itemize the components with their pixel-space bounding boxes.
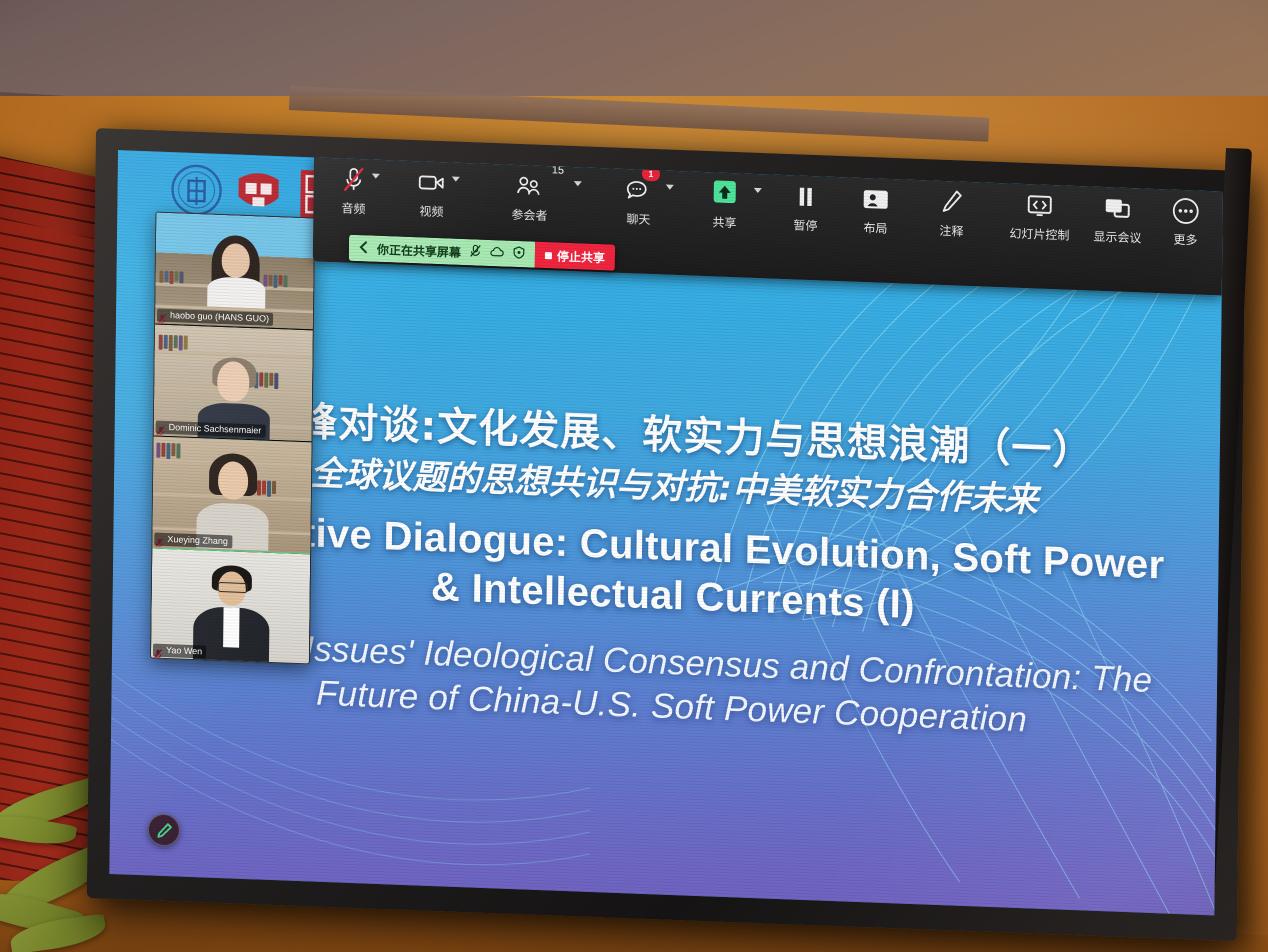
toolbar-button-audio[interactable]: 音频: [341, 158, 366, 217]
toolbar-button-annotate[interactable]: 注释: [939, 181, 964, 240]
toolbar-label-participants: 参会者: [511, 206, 547, 224]
toolbar-button-share[interactable]: 共享: [709, 172, 740, 231]
slide-control-icon: [1026, 190, 1054, 221]
stop-square-icon: [545, 252, 552, 259]
slide-english-subtitle: Global Issues' Ideological Consensus and…: [181, 623, 1162, 747]
participants-count: 15: [552, 164, 564, 176]
share-screen-up-arrow-icon: [710, 178, 740, 209]
toolbar-button-pause[interactable]: 暂停: [793, 175, 818, 234]
toolbar-button-more[interactable]: 更多: [1171, 190, 1200, 249]
toolbar-button-video[interactable]: 视频: [417, 161, 446, 220]
toolbar-label-layout: 布局: [863, 219, 887, 237]
layout-icon: [862, 184, 890, 215]
share-status-caret-icon[interactable]: [359, 241, 368, 256]
zoom-shared-screen: 高峰对谈:文化发展、软实力与思想浪潮（一） 全球议题的思想共识与对抗:中美软实力…: [109, 150, 1223, 915]
participant-tile[interactable]: haobo guo (HANS GUO): [155, 212, 314, 330]
participants-icon: [515, 171, 545, 202]
cloud-recording-icon[interactable]: [490, 245, 504, 261]
share-status-text: 你正在共享屏幕: [377, 240, 461, 260]
toolbar-button-slide-control[interactable]: 幻灯片控制: [1009, 183, 1070, 243]
more-ellipsis-icon: [1172, 196, 1200, 227]
video-camera-icon: [418, 167, 446, 198]
participant-tile[interactable]: Dominic Sachsenmaier: [154, 324, 313, 442]
participant-tile[interactable]: Yao Wen: [151, 548, 310, 664]
toolbar-label-annotate: 注释: [939, 222, 963, 240]
toolbar-label-more: 更多: [1173, 231, 1197, 249]
toolbar-label-chat: 聊天: [626, 210, 650, 228]
stop-share-label: 停止共享: [557, 247, 605, 266]
conference-room-photo: 高峰对谈:文化发展、软实力与思想浪潮（一） 全球议题的思想共识与对抗:中美软实力…: [0, 0, 1268, 952]
toolbar-label-audio: 音频: [341, 199, 365, 217]
participant-tile-active-speaker[interactable]: Xueying Zhang: [152, 436, 311, 554]
stop-share-button[interactable]: 停止共享: [535, 242, 615, 271]
pencil-annotate-icon: [155, 821, 172, 839]
pause-icon: [796, 181, 816, 212]
wall-mounted-display: 高峰对谈:文化发展、软实力与思想浪潮（一） 全球议题的思想共识与对抗:中美软实力…: [96, 128, 1256, 908]
show-meeting-windows-icon: [1104, 193, 1132, 224]
toolbar-label-show-meeting: 显示会议: [1093, 228, 1141, 247]
chevron-down-icon[interactable]: [452, 177, 460, 182]
toolbar-button-show-meeting[interactable]: 显示会议: [1093, 187, 1142, 247]
pencil-annotate-icon: [940, 187, 964, 218]
toolbar-label-video: 视频: [419, 202, 443, 220]
annotation-toggle-button[interactable]: [148, 813, 180, 846]
chevron-down-icon[interactable]: [666, 185, 674, 190]
shield-icon[interactable]: [513, 246, 525, 262]
toolbar-label-slide-control: 幻灯片控制: [1009, 224, 1069, 243]
toolbar-label-share: 共享: [712, 213, 736, 231]
microphone-muted-icon[interactable]: [470, 244, 481, 260]
participant-name: Yao Wen: [153, 644, 206, 659]
slide-english-title: Executive Dialogue: Cultural Evolution, …: [173, 504, 1174, 639]
toolbar-button-participants[interactable]: 参会者 15: [511, 165, 548, 224]
participant-video-strip[interactable]: haobo guo (HANS GUO): [150, 211, 315, 664]
tv-screen: 高峰对谈:文化发展、软实力与思想浪潮（一） 全球议题的思想共识与对抗:中美软实力…: [109, 150, 1223, 915]
chevron-down-icon[interactable]: [372, 174, 380, 179]
chevron-down-icon[interactable]: [754, 188, 762, 193]
toolbar-button-chat[interactable]: 聊天 1: [625, 169, 652, 228]
toolbar-label-pause: 暂停: [793, 216, 817, 234]
microphone-muted-icon: [343, 164, 365, 195]
chevron-down-icon[interactable]: [574, 181, 582, 186]
toolbar-button-layout[interactable]: 布局: [861, 178, 890, 237]
